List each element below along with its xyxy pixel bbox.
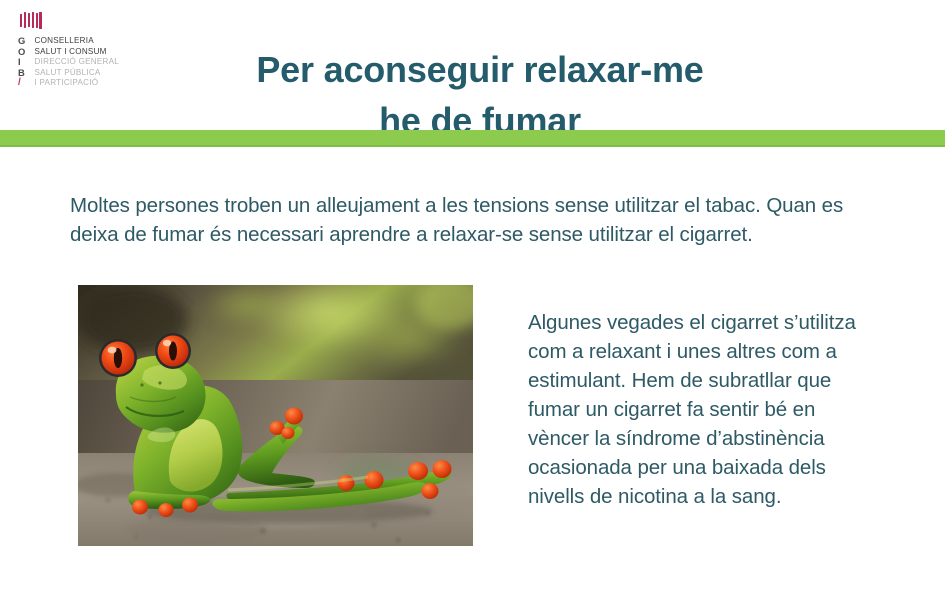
accent-divider-bar [0, 130, 945, 147]
slide-header: G O I B / CONSELLERIA SALUT I CONSUM DIR… [0, 0, 945, 130]
coat-of-arms-icon [20, 12, 42, 30]
logo-line-salut-publica: SALUT PÚBLICA [35, 68, 120, 79]
logo-letter-g: G [18, 36, 26, 47]
lead-paragraph: Moltes persones troben un alleujament a … [70, 191, 870, 249]
logo-slash-icon: / [18, 78, 26, 89]
logo-line-conselleria: CONSELLERIA [35, 36, 120, 47]
side-paragraph: Algunes vegades el cigarret s’utilitza c… [528, 308, 878, 511]
logo-line-i-participacio: I PARTICIPACIÓ [35, 78, 120, 89]
page-title-line-1: Per aconseguir relaxar-me [150, 44, 810, 95]
relaxing-frog-figurine-photo [78, 285, 473, 546]
frog-photo-illustration [78, 285, 473, 546]
logo-acronym: G O I B / [18, 36, 26, 89]
logo-text-block: G O I B / CONSELLERIA SALUT I CONSUM DIR… [18, 36, 119, 89]
logo-department-lines: CONSELLERIA SALUT I CONSUM DIRECCIÓ GENE… [35, 36, 120, 89]
logo-line-salut-i-consum: SALUT I CONSUM [35, 47, 120, 58]
logo-line-direccio-general: DIRECCIÓ GENERAL [35, 57, 120, 68]
